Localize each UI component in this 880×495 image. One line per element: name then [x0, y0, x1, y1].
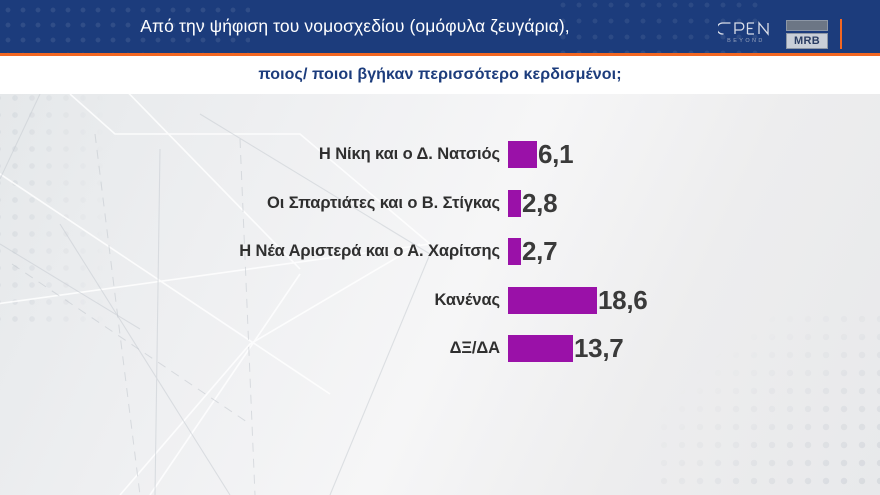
- mrb-logo: MRB: [786, 20, 828, 49]
- table-row: Η Νέα Αριστερά και ο Α. Χαρίτσης 2,7: [0, 234, 880, 268]
- mrb-logo-label: MRB: [786, 33, 828, 49]
- bar-category-label: Η Νέα Αριστερά και ο Α. Χαρίτσης: [0, 242, 508, 261]
- bar-and-value: 2,7: [508, 238, 557, 265]
- bar-value-label: 6,1: [538, 141, 573, 168]
- bar-and-value: 18,6: [508, 287, 647, 314]
- chart-area: Η Νίκη και ο Δ. Νατσιός 6,1 Οι Σπαρτιάτε…: [0, 94, 880, 495]
- bar-and-value: 6,1: [508, 141, 573, 168]
- table-row: Οι Σπαρτιάτες και ο Β. Στίγκας 2,8: [0, 186, 880, 220]
- open-logo-glyphs: [718, 21, 774, 36]
- table-row: Η Νίκη και ο Δ. Νατσιός 6,1: [0, 137, 880, 171]
- bar-category-label: Οι Σπαρτιάτες και ο Β. Στίγκας: [0, 194, 508, 213]
- bar-segment: [508, 335, 573, 362]
- subtitle-text: ποιος/ ποιοι βγήκαν περισσότερο κερδισμέ…: [258, 66, 621, 84]
- bar-value-label: 2,7: [522, 238, 557, 265]
- bar-category-label: Η Νίκη και ο Δ. Νατσιός: [0, 145, 508, 164]
- bar-and-value: 2,8: [508, 190, 557, 217]
- bar-and-value: 13,7: [508, 335, 623, 362]
- bar-value-label: 2,8: [522, 190, 557, 217]
- mrb-logo-top-bar: [786, 20, 828, 31]
- bar-value-label: 13,7: [574, 335, 623, 362]
- bar-segment: [508, 141, 537, 168]
- subtitle-band: ποιος/ ποιοι βγήκαν περισσότερο κερδισμέ…: [0, 56, 880, 94]
- open-logo-wordmark: [718, 21, 774, 36]
- bar-rows: Η Νίκη και ο Δ. Νατσιός 6,1 Οι Σπαρτιάτε…: [0, 94, 880, 495]
- bar-segment: [508, 190, 521, 217]
- open-beyond-logo: BEYOND: [716, 20, 776, 46]
- bar-category-label: ΔΞ/ΔΑ: [0, 339, 508, 358]
- header-divider: [840, 19, 842, 49]
- table-row: ΔΞ/ΔΑ 13,7: [0, 331, 880, 365]
- bar-value-label: 18,6: [598, 287, 647, 314]
- open-logo-tagline: BEYOND: [727, 38, 765, 45]
- poll-result-slide: Από την ψήφιση του νομοσχεδίου (ομόφυλα …: [0, 0, 880, 495]
- bar-segment: [508, 238, 521, 265]
- table-row: Κανένας 18,6: [0, 283, 880, 317]
- bar-segment: [508, 287, 597, 314]
- bar-category-label: Κανένας: [0, 291, 508, 310]
